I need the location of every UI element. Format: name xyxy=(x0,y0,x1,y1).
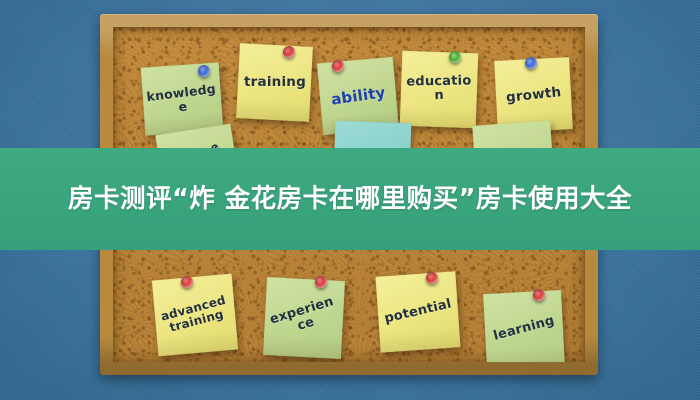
sticky-note-label: advanced training xyxy=(153,292,237,338)
sticky-note-learning[interactable]: learning xyxy=(483,290,565,362)
sticky-note-label: education xyxy=(401,75,477,104)
banner-title-text: 房卡测评“炸 金花房卡在哪里购买”房卡使用大全 xyxy=(30,180,670,218)
sticky-note-knowledge[interactable]: knowledge xyxy=(141,62,224,135)
pushpin-red-training[interactable] xyxy=(283,46,295,58)
sticky-note-experience[interactable]: experience xyxy=(263,277,345,359)
title-banner: 房卡测评“炸 金花房卡在哪里购买”房卡使用大全 xyxy=(0,148,700,250)
pushpin-red-potential[interactable] xyxy=(426,272,438,284)
pushpin-red-advanced-training[interactable] xyxy=(181,276,193,288)
sticky-note-label: ability xyxy=(326,84,390,109)
sticky-note-education[interactable]: education xyxy=(400,51,479,129)
sticky-note-label: knowledge xyxy=(142,81,223,117)
screenshot-stage: knowledge training ability education gro… xyxy=(0,0,700,400)
pushpin-blue-knowledge[interactable] xyxy=(198,65,210,77)
pushpin-blue-growth[interactable] xyxy=(525,57,537,69)
sticky-note-advanced-training[interactable]: advanced training xyxy=(152,274,238,357)
pushpin-red-learning[interactable] xyxy=(533,289,545,301)
pushpin-red-experience[interactable] xyxy=(315,276,327,288)
sticky-note-label: learning xyxy=(488,314,560,346)
sticky-note-label: growth xyxy=(501,84,566,105)
sticky-note-label: potential xyxy=(379,297,456,328)
sticky-note-label: experience xyxy=(263,293,346,343)
sticky-note-label: training xyxy=(240,75,310,90)
sticky-note-training[interactable]: training xyxy=(236,43,313,122)
pushpin-red-ability[interactable] xyxy=(332,60,344,72)
pushpin-green-education[interactable] xyxy=(449,51,461,63)
sticky-note-potential[interactable]: potential xyxy=(375,271,460,352)
